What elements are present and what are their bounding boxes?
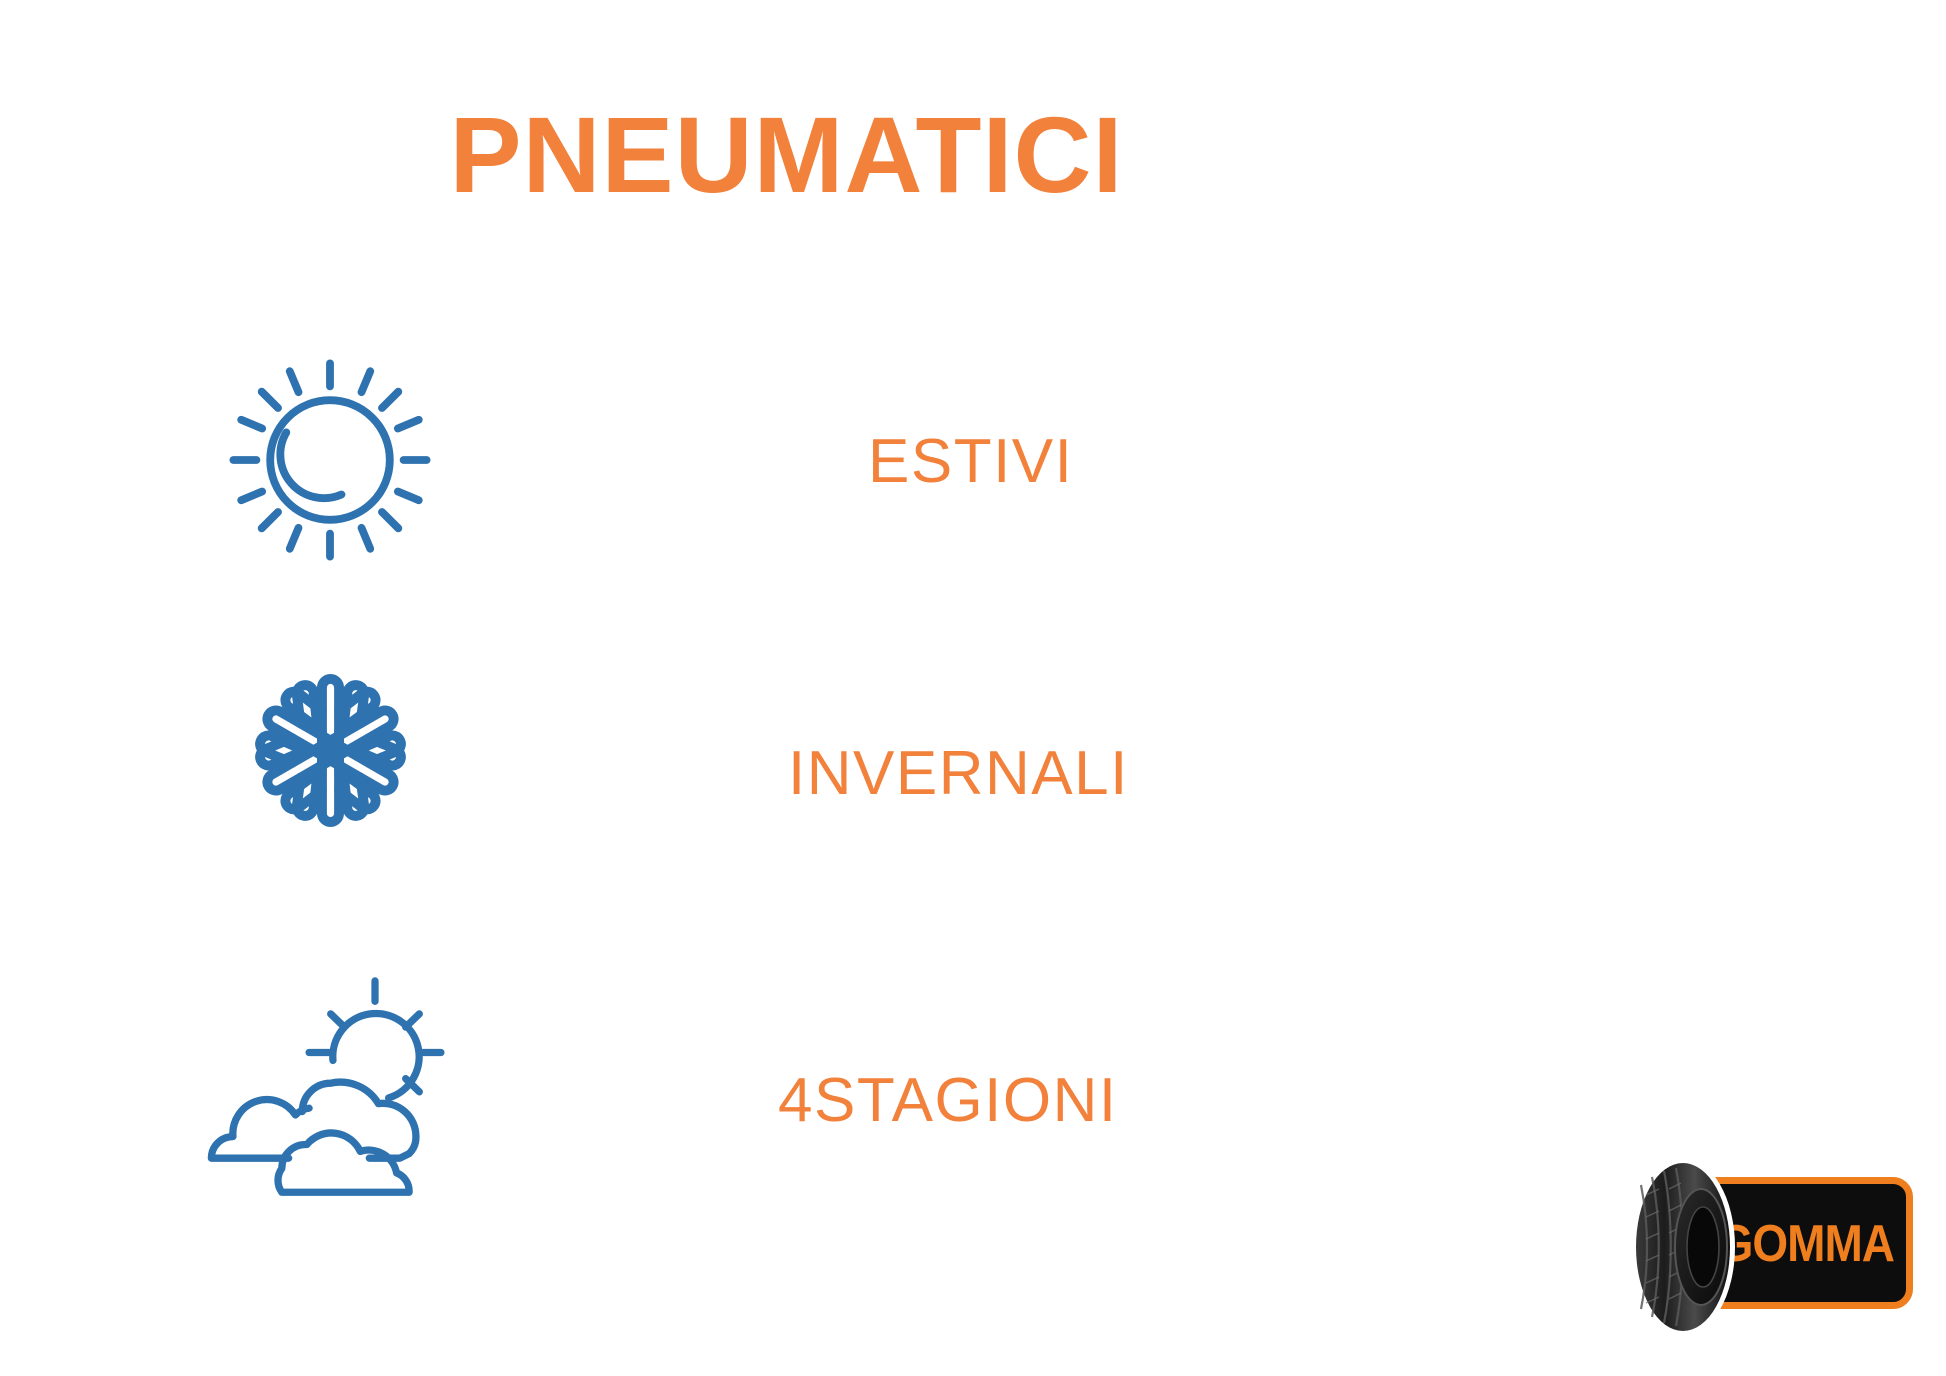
sun-icon [215, 345, 445, 575]
snowflake-icon [215, 635, 445, 865]
regomma-logo[interactable]: REGOMMA [1625, 1155, 1917, 1340]
page-title: PNEUMATICI [0, 96, 1573, 215]
category-label-4stagioni: 4STAGIONI [778, 1065, 1118, 1136]
tire-icon [1625, 1155, 1745, 1340]
category-row-estivi: ESTIVI [0, 330, 1573, 590]
category-row-4stagioni: 4STAGIONI [0, 910, 1573, 1170]
category-row-invernali: INVERNALI [0, 620, 1573, 880]
category-label-invernali: INVERNALI [788, 738, 1129, 809]
sun-behind-cloud-icon [200, 965, 450, 1215]
slide-canvas: PNEUMATICI [0, 0, 1946, 1376]
category-label-estivi: ESTIVI [868, 426, 1073, 497]
